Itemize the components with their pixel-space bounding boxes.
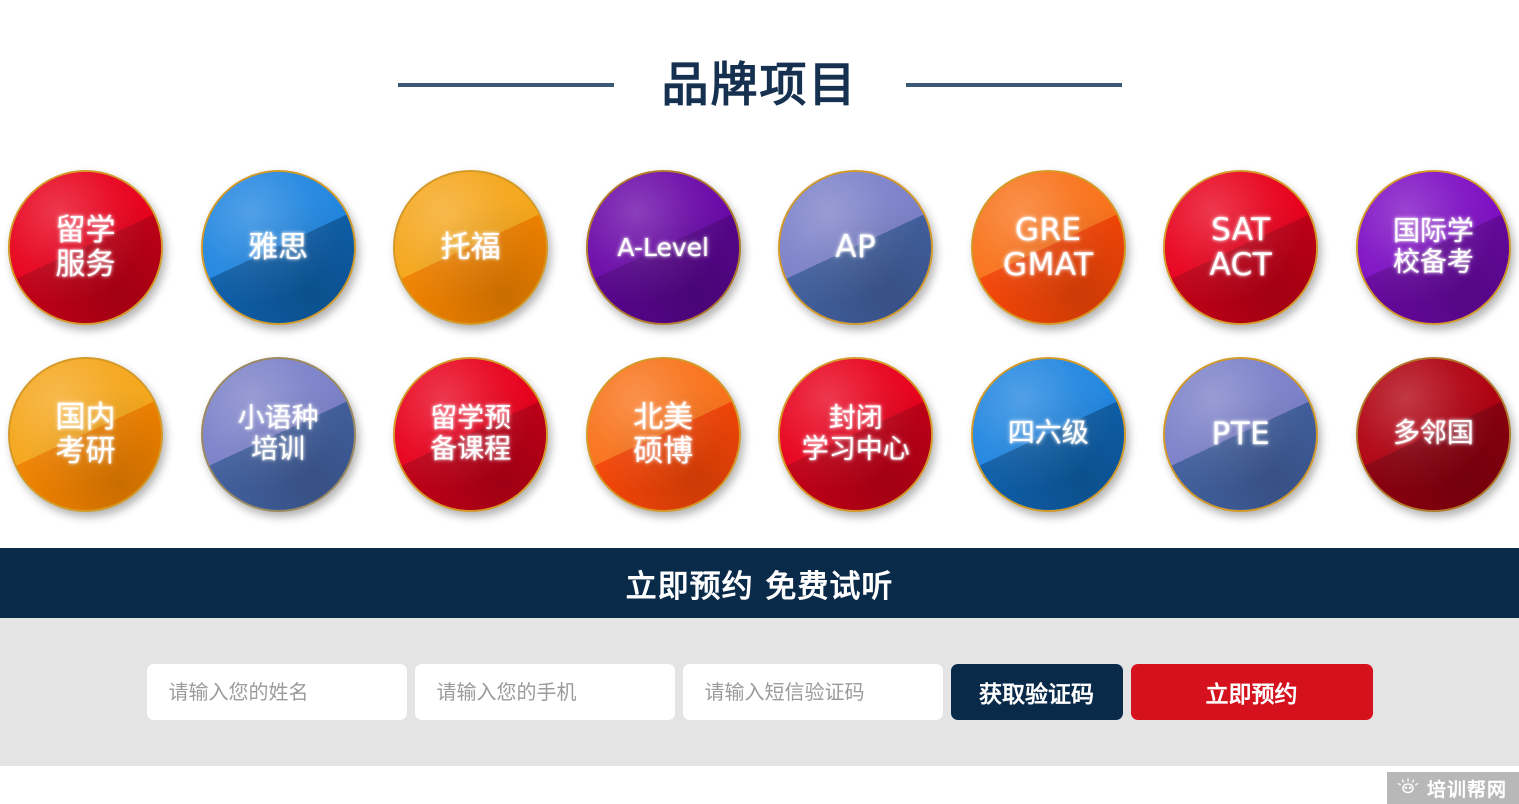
phone-input[interactable] [415, 664, 675, 720]
program-bubble-label: A-Level [617, 234, 709, 262]
name-input[interactable] [147, 664, 407, 720]
program-bubble[interactable]: 封闭学习中心 [778, 357, 933, 512]
program-bubble-label: 小语种培训 [238, 404, 319, 464]
title-rule-left [398, 83, 614, 87]
program-bubble-label: 四六级 [1008, 419, 1089, 449]
program-bubble[interactable]: 留学服务 [8, 170, 163, 325]
program-bubble-label: 北美硕博 [633, 401, 693, 468]
program-bubble-label: 国际学校备考 [1393, 217, 1474, 277]
program-bubble[interactable]: A-Level [586, 170, 741, 325]
cta-banner: 立即预约 免费试听 [0, 548, 1519, 618]
program-bubble[interactable]: GREGMAT [971, 170, 1126, 325]
program-row: 留学服务雅思托福A-LevelAPGREGMATSATACT国际学校备考 [8, 170, 1511, 325]
program-bubble[interactable]: 留学预备课程 [393, 357, 548, 512]
program-bubble[interactable]: AP [778, 170, 933, 325]
program-bubble[interactable]: 四六级 [971, 357, 1126, 512]
watermark-text: 培训帮网 [1427, 775, 1507, 802]
site-watermark: 培训帮网 [1387, 772, 1519, 804]
program-bubble-label: 封闭学习中心 [802, 404, 910, 464]
program-bubble-label: 多邻国 [1393, 419, 1474, 449]
program-bubble-label: GREGMAT [1003, 213, 1094, 282]
get-sms-code-button[interactable]: 获取验证码 [951, 664, 1123, 720]
program-grid: 留学服务雅思托福A-LevelAPGREGMATSATACT国际学校备考国内考研… [0, 170, 1519, 512]
program-row: 国内考研小语种培训留学预备课程北美硕博封闭学习中心四六级PTE多邻国 [8, 357, 1511, 512]
page-header: 品牌项目 [0, 0, 1519, 170]
program-bubble-label: 雅思 [248, 231, 308, 265]
program-bubble[interactable]: 小语种培训 [201, 357, 356, 512]
program-bubble[interactable]: PTE [1163, 357, 1318, 512]
program-bubble-label: 托福 [441, 231, 501, 265]
program-bubble-label: SATACT [1210, 213, 1273, 282]
program-bubble[interactable]: 国际学校备考 [1356, 170, 1511, 325]
program-bubble[interactable]: SATACT [1163, 170, 1318, 325]
program-bubble[interactable]: 北美硕博 [586, 357, 741, 512]
booking-form: 获取验证码 立即预约 [0, 618, 1519, 766]
program-bubble[interactable]: 多邻国 [1356, 357, 1511, 512]
program-bubble-label: AP [835, 230, 876, 265]
program-bubble-label: 国内考研 [56, 401, 116, 468]
program-bubble-label: 留学预备课程 [430, 404, 511, 464]
program-bubble-label: PTE [1212, 417, 1271, 452]
program-bubble-label: 留学服务 [56, 214, 116, 281]
submit-booking-button[interactable]: 立即预约 [1131, 664, 1373, 720]
title-rule-right [906, 83, 1122, 87]
page-title: 品牌项目 [662, 62, 858, 109]
cta-banner-text: 立即预约 免费试听 [626, 561, 894, 606]
program-bubble[interactable]: 国内考研 [8, 357, 163, 512]
sms-code-input[interactable] [683, 664, 943, 720]
program-bubble[interactable]: 雅思 [201, 170, 356, 325]
sun-face-icon [1397, 778, 1419, 798]
program-bubble[interactable]: 托福 [393, 170, 548, 325]
